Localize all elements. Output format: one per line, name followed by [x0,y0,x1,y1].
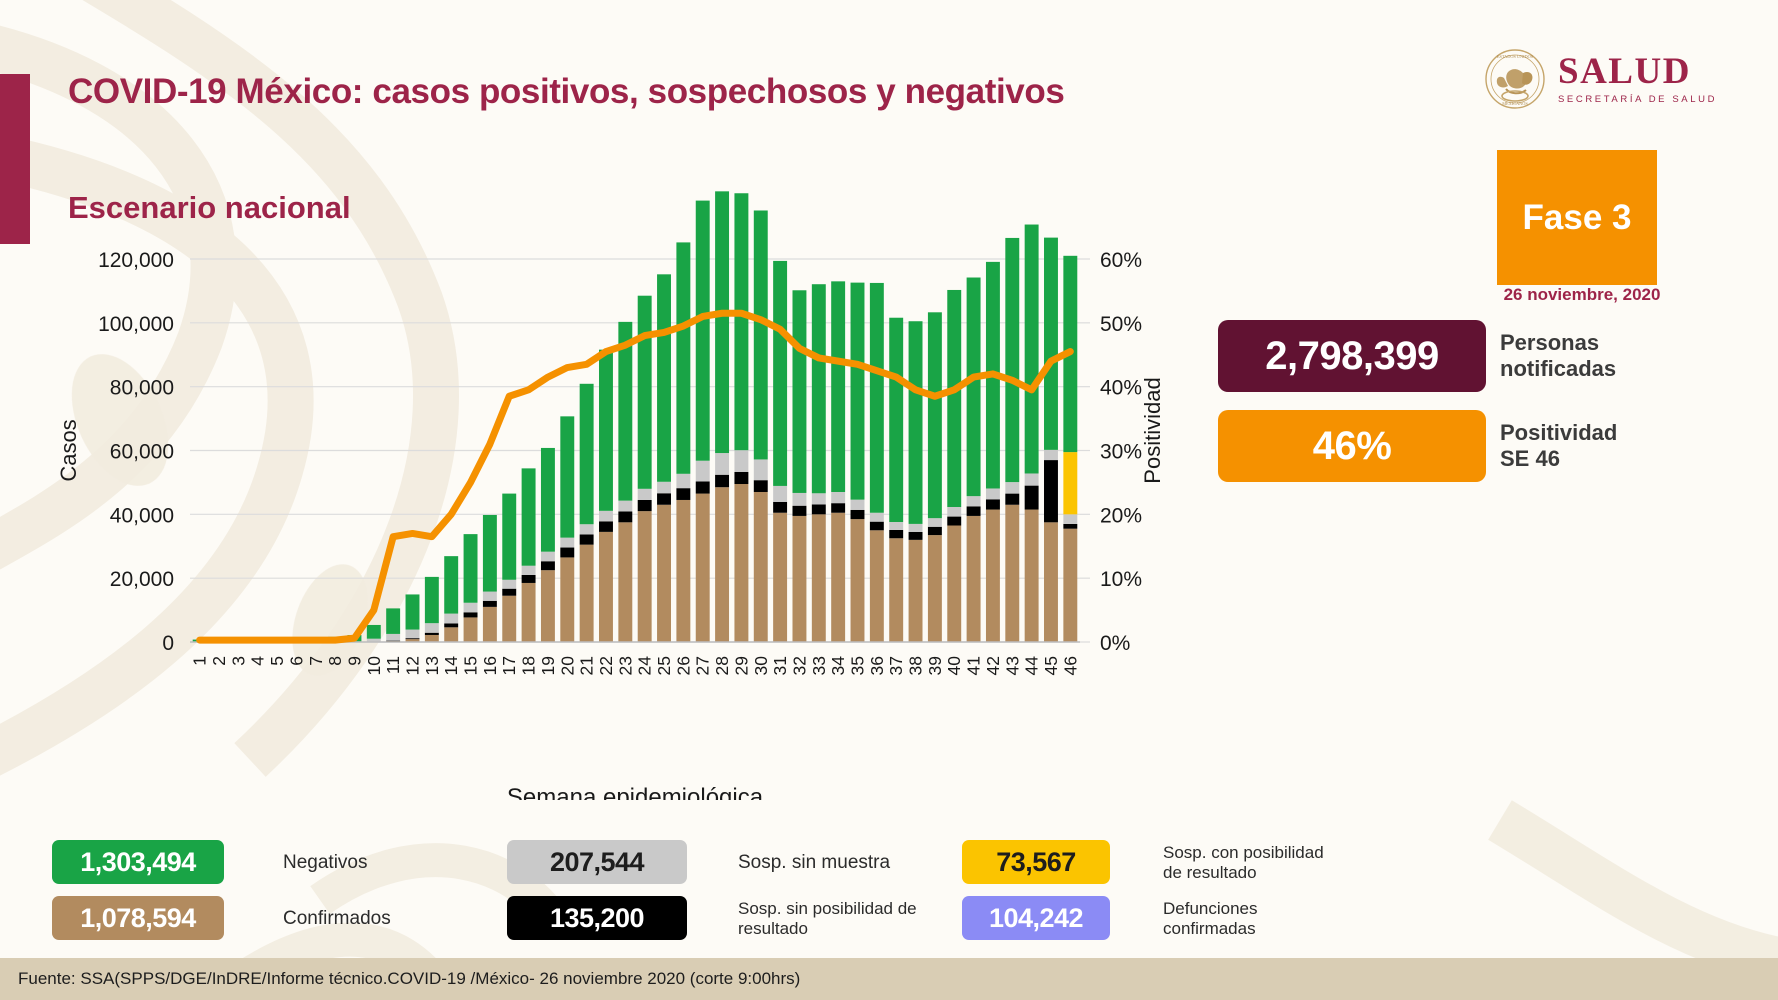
stat-positividad: 46% PositividadSE 46 [1218,410,1617,482]
y2-axis-tick-label: 20% [1100,504,1142,527]
y-axis-tick-label: 0 [162,632,174,655]
bar-segment [734,450,748,472]
bar-segment [812,493,826,504]
bar-segment [870,513,884,522]
bar-segment [599,511,613,522]
bar-segment [986,499,1000,509]
x-axis-tick-label: 30 [751,656,771,676]
x-axis-tick-label: 4 [248,656,268,666]
bar-segment [792,493,806,506]
bar-segment [812,284,826,493]
bar-segment [1025,486,1039,510]
stat-label: Personasnotificadas [1500,330,1616,383]
y-axis-tick-label: 60,000 [110,441,174,464]
bar-segment [870,522,884,531]
legend-label-sosp-con-posibilidad: Sosp. con posibilidad de resultado [1157,840,1337,886]
bar-segment [386,641,400,642]
bar-segment [909,524,923,532]
bar-segment [502,580,516,589]
bar-segment [1044,460,1058,522]
bar-segment [580,534,594,544]
bar-segment [1044,450,1058,460]
legend-value-negativos: 1,303,494 [52,840,224,884]
x-axis-tick-label: 2 [209,656,229,666]
bar-segment [812,504,826,514]
bar-segment [1005,494,1019,505]
bar-segment [367,639,381,642]
stat-label-line1: Personas [1500,330,1599,355]
x-axis-tick-label: 31 [770,656,790,675]
bar-segment [812,514,826,642]
bar-segment [444,556,458,613]
x-axis-tick-label: 41 [964,656,984,675]
bar-segment [638,500,652,511]
bar-segment [696,461,710,482]
x-axis-tick-label: 17 [499,656,519,675]
x-axis-tick-label: 34 [828,656,848,676]
x-axis-tick-label: 21 [577,656,597,675]
x-axis-tick-label: 46 [1060,656,1080,675]
legend-value-confirmados: 1,078,594 [52,896,224,940]
x-axis-tick-label: 15 [461,656,481,675]
bar-segment [638,511,652,642]
legend-value-sosp-sin-muestra: 207,544 [507,840,687,884]
mexico-coat-of-arms-icon: ESTADOS UNIDOS MEXICANOS [1484,48,1546,110]
x-axis-tick-label: 26 [673,656,693,675]
bar-segment [541,552,555,562]
x-axis-tick-label: 13 [422,656,442,675]
bar-segment [425,635,439,642]
x-axis-tick-label: 36 [867,656,887,675]
bar-segment [928,312,942,518]
bar-segment [831,281,845,492]
bar-segment [522,468,536,565]
y2-axis-tick-label: 50% [1100,313,1142,336]
bar-segment [502,589,516,596]
bar-segment [1025,510,1039,642]
stat-value: 2,798,399 [1218,320,1486,392]
bar-segment [947,517,961,526]
x-axis-tick-label: 44 [1022,656,1042,676]
bar-segment [947,526,961,642]
bar-segment [734,193,748,450]
x-axis-tick-label: 28 [712,656,732,675]
x-axis-tick-label: 10 [364,656,384,676]
y-axis-tick-label: 20,000 [110,568,174,591]
slide-root: COVID-19 México: casos positivos, sospec… [0,0,1778,1000]
x-axis-tick-label: 45 [1041,656,1061,675]
bar-segment [638,489,652,500]
x-axis-tick-label: 12 [403,656,423,675]
bar-segment [522,566,536,575]
bar-segment [1025,473,1039,485]
bar-segment [1005,238,1019,482]
bar-segment [502,494,516,580]
legend-value-sosp-con-posibilidad: 73,567 [962,840,1110,884]
bar-segment [406,594,420,629]
stat-label-line2: notificadas [1500,356,1616,381]
bar-segment [599,350,613,511]
x-axis-tick-label: 16 [480,656,500,675]
bar-segment [773,486,787,502]
bar-segment [1044,238,1058,450]
bar-segment [618,511,632,522]
bar-segment [1063,452,1077,514]
bar-segment [773,502,787,513]
bar-segment [870,283,884,513]
bar-segment [464,603,478,613]
bar-segment [638,296,652,489]
bar-segment [715,487,729,642]
bar-segment [696,201,710,461]
x-axis-tick-label: 43 [1002,656,1022,675]
bar-segment [657,493,671,504]
chart-legend: 1,303,494 Negativos 207,544 Sosp. sin mu… [52,840,1322,942]
bar-segment [967,516,981,642]
x-axis-tick-label: 27 [693,656,713,675]
bar-segment [444,623,458,627]
bar-segment [560,548,574,558]
bar-segment [792,290,806,493]
x-axis-tick-label: 11 [383,656,403,674]
bar-segment [483,607,497,642]
x-axis-tick-label: 8 [325,656,345,666]
legend-label-negativos: Negativos [277,840,507,886]
bar-segment [734,484,748,642]
bar-segment [541,448,555,552]
logo-tagline: SECRETARÍA DE SALUD [1558,94,1717,105]
bar-segment [676,474,690,488]
bar-segment [889,530,903,538]
bar-segment [560,557,574,642]
x-axis-tick-label: 33 [809,656,829,675]
bar-segment [676,500,690,642]
bar-segment [406,638,420,639]
bar-segment [928,527,942,535]
y-axis-title: Casos [56,419,81,481]
x-axis-tick-label: 32 [789,656,809,675]
bar-segment [1044,522,1058,642]
y2-axis-tick-label: 40% [1100,377,1142,400]
x-axis-tick-label: 1 [190,656,210,666]
bar-segment [444,614,458,624]
x-axis-tick-label: 20 [557,656,577,676]
bar-segment [483,601,497,607]
x-axis-tick-label: 22 [596,656,616,675]
y-axis-tick-label: 120,000 [98,249,174,272]
bar-segment [425,623,439,633]
bar-segment [851,500,865,510]
bar-segment [909,540,923,642]
bar-segment [502,596,516,642]
bar-segment [425,633,439,635]
x-axis-tick-label: 29 [731,656,751,675]
phase-label: Fase 3 [1523,198,1632,238]
y2-axis-tick-label: 0% [1100,632,1130,655]
bar-segment [1005,505,1019,642]
bar-segment [580,524,594,534]
x-axis-title: Semana epidemiológica [507,784,764,800]
y2-axis-title: Positividad [1140,377,1165,483]
bar-segment [386,608,400,634]
bar-segment [618,501,632,512]
bar-segment [425,577,439,623]
bar-segment [464,612,478,617]
bar-segment [483,592,497,601]
stat-label-line2: SE 46 [1500,446,1560,471]
bar-segment [986,510,1000,642]
x-axis-tick-label: 18 [519,656,539,675]
y2-axis-tick-label: 10% [1100,568,1142,591]
bar-segment [986,488,1000,499]
y2-axis-tick-label: 30% [1100,441,1142,464]
legend-label-sosp-sin-muestra: Sosp. sin muestra [732,840,962,886]
legend-label-sosp-sin-posibilidad: Sosp. sin posibilidad de resultado [732,896,962,942]
bar-segment [947,290,961,507]
bar-segment [541,570,555,642]
bar-segment [831,492,845,503]
y-axis-tick-label: 80,000 [110,377,174,400]
bar-segment [928,518,942,527]
bar-segment [580,384,594,524]
x-axis-tick-label: 40 [944,656,964,676]
bar-segment [657,274,671,481]
bar-segment [851,519,865,642]
bar-segment [715,453,729,475]
bar-segment [773,261,787,486]
bar-segment [947,507,961,517]
covid-stacked-bar-chart: 020,00040,00060,00080,000100,000120,0000… [0,0,1180,800]
x-axis-tick-label: 38 [906,656,926,675]
bar-segment [599,521,613,532]
bar-segment [464,534,478,603]
bar-segment [967,506,981,516]
bar-segment [889,538,903,642]
bar-segment [851,283,865,500]
x-axis-tick-label: 19 [538,656,558,675]
bar-segment [967,278,981,497]
bar-segment [754,480,768,492]
salud-logo: ESTADOS UNIDOS MEXICANOS SALUD SECRETARÍ… [1484,48,1717,110]
x-axis-tick-label: 6 [286,656,306,666]
y-axis-tick-label: 40,000 [110,504,174,527]
bar-segment [676,242,690,473]
bar-segment [464,617,478,642]
bar-segment [909,321,923,524]
x-axis-tick-label: 3 [228,656,248,666]
bar-segment [909,532,923,540]
bar-segment [715,475,729,487]
bar-segment [580,545,594,642]
x-axis-tick-label: 7 [306,656,326,666]
x-axis-tick-label: 42 [983,656,1003,675]
bar-segment [560,416,574,537]
logo-wordmark: SALUD [1558,53,1717,90]
x-axis-tick-label: 35 [848,656,868,675]
legend-label-defunciones: Defunciones confirmadas [1157,896,1337,942]
bar-segment [870,530,884,642]
bar-segment [967,496,981,506]
bar-segment [734,472,748,484]
bar-segment [541,561,555,570]
bar-segment [928,535,942,642]
bar-segment [696,481,710,493]
x-axis-tick-label: 24 [635,656,655,676]
bar-segment [754,492,768,642]
x-axis-tick-label: 5 [267,656,287,666]
legend-value-defunciones: 104,242 [962,896,1110,940]
bar-segment [792,516,806,642]
bar-segment [522,575,536,583]
bar-segment [657,505,671,642]
bar-segment [851,510,865,519]
bar-segment [1025,225,1039,474]
bar-segment [754,210,768,459]
stat-label: PositividadSE 46 [1500,420,1617,473]
report-date: 26 noviembre, 2020 [1487,285,1677,305]
x-axis-tick-label: 37 [886,656,906,675]
legend-value-sosp-sin-posibilidad: 135,200 [507,896,687,940]
bar-segment [889,318,903,522]
bar-segment [657,482,671,493]
x-axis-tick-label: 14 [441,656,461,676]
bar-segment [444,627,458,642]
bar-segment [792,506,806,516]
bar-segment [1063,514,1077,524]
bar-segment [831,513,845,642]
bar-segment [754,459,768,480]
bar-segment [773,513,787,642]
x-axis-tick-label: 23 [615,656,635,675]
source-text: Fuente: SSA(SPPS/DGE/InDRE/Informe técni… [0,969,800,989]
y-axis-tick-label: 100,000 [98,313,174,336]
stat-personas-notificadas: 2,798,399 Personasnotificadas [1218,320,1616,392]
x-axis-tick-label: 9 [344,656,364,666]
svg-text:ESTADOS UNIDOS: ESTADOS UNIDOS [1497,54,1534,59]
bar-segment [483,515,497,592]
bar-segment [560,538,574,548]
bar-segment [406,630,420,639]
y2-axis-tick-label: 60% [1100,249,1142,272]
bar-segment [831,503,845,513]
bar-segment [1063,529,1077,642]
bar-segment [367,625,381,639]
phase-badge: Fase 3 [1497,150,1657,285]
bar-segment [715,191,729,453]
x-axis-tick-label: 39 [925,656,945,675]
stat-label-line1: Positividad [1500,420,1617,445]
bar-segment [386,634,400,641]
bar-segment [889,522,903,530]
legend-label-confirmados: Confirmados [277,896,507,942]
source-footer: Fuente: SSA(SPPS/DGE/InDRE/Informe técni… [0,958,1778,1000]
x-axis-tick-label: 25 [654,656,674,675]
bar-segment [1005,482,1019,493]
bar-segment [522,583,536,642]
bar-segment [676,488,690,500]
bar-segment [1063,524,1077,529]
bar-segment [618,522,632,642]
bar-segment [696,494,710,642]
stat-value: 46% [1218,410,1486,482]
bar-segment [599,532,613,642]
